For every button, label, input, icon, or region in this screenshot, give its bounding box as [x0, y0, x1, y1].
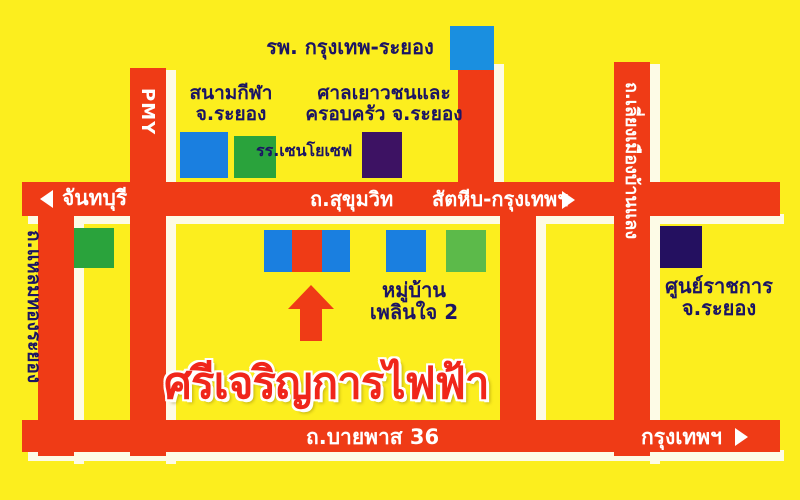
label-village: หมู่บ้าน เพลินใจ 2 [352, 279, 476, 324]
road-label-sukhumvit: ถ.สุขุมวิท [310, 189, 393, 209]
village-blue-block [386, 230, 426, 272]
road-inner-west-vertical [130, 198, 166, 456]
village-green-block [446, 230, 486, 272]
road-label-pmy: PMY [138, 88, 156, 135]
gov-center-block [660, 226, 702, 268]
arrow-left-icon-chanthaburi [40, 190, 53, 208]
road-north-link [458, 62, 494, 194]
map-canvas: รพ. กรุงเทพ-ระยอง สนามกีฬา จ.ระยอง ศาลเย… [0, 0, 800, 500]
shop-block-right [322, 230, 350, 272]
road-label-bangkok: กรุงเทพฯ [641, 427, 722, 448]
road-shadow-east [650, 64, 660, 464]
road-label-sattahip-bangkok: สัตหีบ-กรุงเทพฯ [432, 189, 568, 209]
road-mid-vertical [500, 216, 536, 432]
label-school: รร.เซนโยเซฟ [256, 142, 376, 160]
road-label-bypass-36: ถ.บายพาส 36 [306, 427, 439, 448]
stadium-block [180, 132, 228, 178]
label-gov-center: ศูนย์ราชการ จ.ระยอง [648, 275, 790, 320]
hospital-block [450, 26, 494, 70]
road-label-east-vertical: ถ.เลี่ยงเมืองบ้านแลง [622, 82, 640, 239]
road-label-west-vertical: ถ.แหลมทองระยอง [23, 230, 44, 383]
shop-block-mid [292, 230, 322, 272]
road-label-chanthaburi: จันทบุรี [62, 188, 127, 209]
west-green-block [74, 228, 114, 268]
label-stadium: สนามกีฬา จ.ระยอง [172, 83, 290, 126]
label-court: ศาลเยาวชนและ ครอบครัว จ.ระยอง [296, 83, 472, 126]
arrow-right-icon-sattahip [562, 191, 575, 209]
arrow-right-icon-bangkok [735, 428, 748, 446]
label-hospital: รพ. กรุงเทพ-ระยอง [256, 36, 444, 58]
shop-name: ศรีเจริญการไฟฟ้า [164, 348, 489, 418]
shop-block-left [264, 230, 292, 272]
shop-location-arrow-icon [288, 285, 334, 341]
